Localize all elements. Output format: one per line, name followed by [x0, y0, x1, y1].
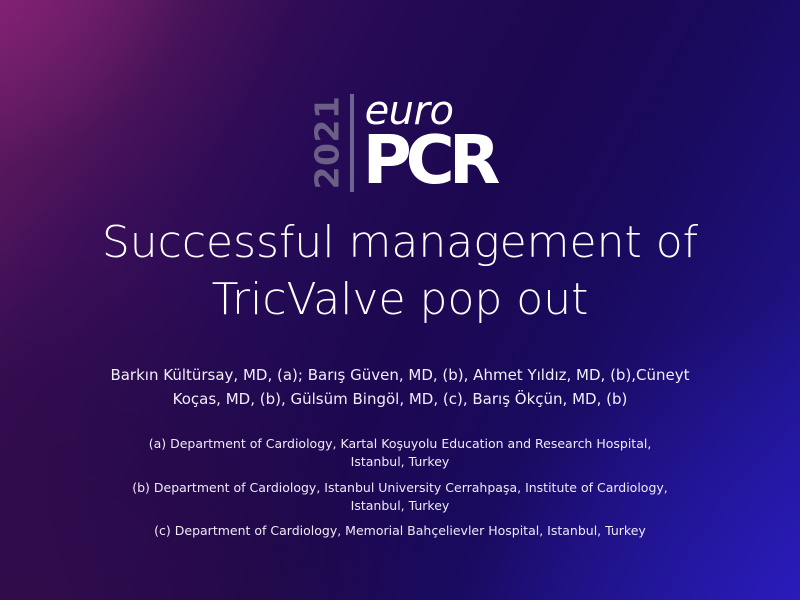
logo-year-vertical: 2021	[306, 92, 348, 192]
logo-year-text: 2021	[307, 95, 346, 189]
author-line-2: Koças, MD, (b), Gülsüm Bingöl, MD, (c), …	[100, 388, 700, 412]
title-line-2: TricValve pop out	[60, 271, 740, 328]
logo-pcr-text: PCR	[363, 132, 495, 190]
europcr-logo: 2021 euro PCR	[0, 92, 800, 200]
logo-divider-bar	[350, 94, 354, 192]
logo-inner: 2021 euro PCR	[306, 92, 495, 192]
affiliation-c: (c) Department of Cardiology, Memorial B…	[90, 522, 710, 540]
affiliation-b-line-1: (b) Department of Cardiology, Istanbul U…	[90, 479, 710, 497]
affiliation-list: (a) Department of Cardiology, Kartal Koş…	[90, 435, 710, 540]
affiliation-b: (b) Department of Cardiology, Istanbul U…	[90, 479, 710, 516]
affiliation-c-line-1: (c) Department of Cardiology, Memorial B…	[90, 522, 710, 540]
slide-title: Successful management of TricValve pop o…	[60, 214, 740, 328]
affiliation-a: (a) Department of Cardiology, Kartal Koş…	[90, 435, 710, 472]
affiliation-a-line-1: (a) Department of Cardiology, Kartal Koş…	[90, 435, 710, 453]
affiliation-b-line-2: Istanbul, Turkey	[90, 497, 710, 515]
presentation-slide: 2021 euro PCR Successful management of T…	[0, 0, 800, 600]
title-line-1: Successful management of	[60, 214, 740, 271]
logo-wordmark: euro PCR	[363, 92, 495, 192]
affiliation-a-line-2: Istanbul, Turkey	[90, 453, 710, 471]
author-list: Barkın Kültürsay, MD, (a); Barış Güven, …	[100, 364, 700, 411]
author-line-1: Barkın Kültürsay, MD, (a); Barış Güven, …	[100, 364, 700, 388]
